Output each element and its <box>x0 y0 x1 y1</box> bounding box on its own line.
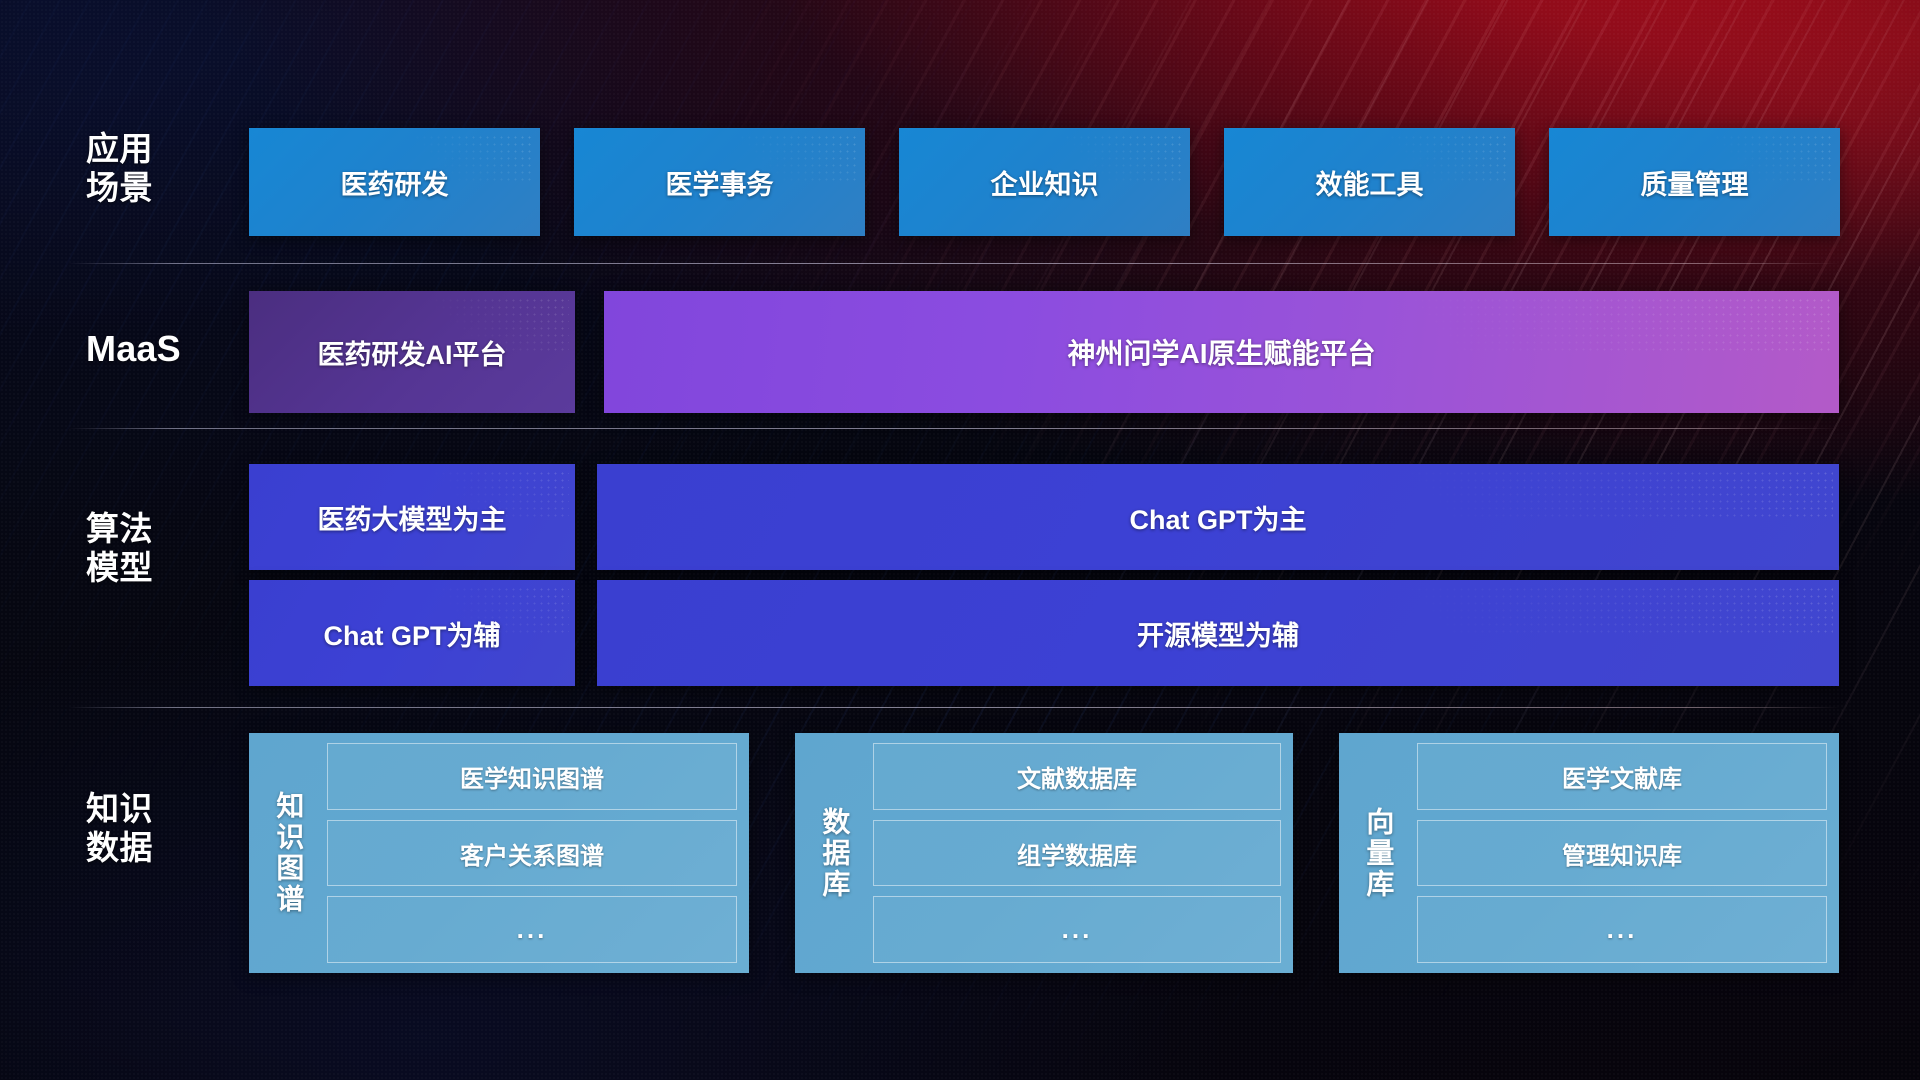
maas-box-shenzhou-wenxue-platform[interactable]: 神州问学AI原生赋能平台 <box>604 291 1839 413</box>
knowledge-group-title-knowledge-graph: 知识图谱 <box>259 743 317 963</box>
app-tile-efficiency-tools[interactable]: 效能工具 <box>1224 128 1515 236</box>
row-label-application-line-1: 应用 <box>86 130 218 169</box>
algo-box-chatgpt-secondary[interactable]: Chat GPT为辅 <box>249 580 575 686</box>
knowledge-group-title-database: 数据库 <box>805 743 863 963</box>
slide-canvas: 应用 场景 医药研发 医学事务 企业知识 效能工具 质量管理 MaaS 医药研发… <box>0 0 1920 1080</box>
knowledge-item-literature-database[interactable]: 文献数据库 <box>873 743 1281 810</box>
row-label-algorithm-line-2: 模型 <box>86 549 218 588</box>
knowledge-group-items-database: 文献数据库 组学数据库 ... <box>863 743 1281 963</box>
knowledge-item-management-knowledge-store[interactable]: 管理知识库 <box>1417 820 1827 887</box>
row-label-knowledge-line-2: 数据 <box>86 829 218 868</box>
row-separator-2 <box>68 428 1840 429</box>
maas-box-pharma-ai-platform[interactable]: 医药研发AI平台 <box>249 291 575 413</box>
knowledge-group-knowledge-graph[interactable]: 知识图谱 医学知识图谱 客户关系图谱 ... <box>249 733 749 973</box>
row-label-application-line-2: 场景 <box>86 169 218 208</box>
row-label-algorithm: 算法 模型 <box>86 510 218 588</box>
knowledge-item-medical-literature-store[interactable]: 医学文献库 <box>1417 743 1827 810</box>
knowledge-group-items-knowledge-graph: 医学知识图谱 客户关系图谱 ... <box>317 743 737 963</box>
row-label-algorithm-line-1: 算法 <box>86 510 218 549</box>
row-label-knowledge-line-1: 知识 <box>86 790 218 829</box>
algo-box-chatgpt-primary[interactable]: Chat GPT为主 <box>597 464 1839 570</box>
knowledge-item-omics-database[interactable]: 组学数据库 <box>873 820 1281 887</box>
knowledge-item-customer-relation-graph[interactable]: 客户关系图谱 <box>327 820 737 887</box>
knowledge-group-items-vector-store: 医学文献库 管理知识库 ... <box>1407 743 1827 963</box>
algo-box-opensource-secondary[interactable]: 开源模型为辅 <box>597 580 1839 686</box>
knowledge-group-vector-store[interactable]: 向量库 医学文献库 管理知识库 ... <box>1339 733 1839 973</box>
knowledge-group-title-vector-store: 向量库 <box>1349 743 1407 963</box>
row-label-knowledge: 知识 数据 <box>86 790 218 868</box>
app-tile-medical-affairs[interactable]: 医学事务 <box>574 128 865 236</box>
app-tile-pharma-rnd[interactable]: 医药研发 <box>249 128 540 236</box>
knowledge-item-more-knowledge-graph[interactable]: ... <box>327 896 737 963</box>
architecture-diagram: 应用 场景 医药研发 医学事务 企业知识 效能工具 质量管理 MaaS 医药研发… <box>0 0 1920 1080</box>
knowledge-item-medical-knowledge-graph[interactable]: 医学知识图谱 <box>327 743 737 810</box>
algo-box-pharma-llm-primary[interactable]: 医药大模型为主 <box>249 464 575 570</box>
row-label-maas-line-1: MaaS <box>86 328 218 370</box>
knowledge-item-more-database[interactable]: ... <box>873 896 1281 963</box>
knowledge-item-more-vector-store[interactable]: ... <box>1417 896 1827 963</box>
row-separator-1 <box>68 263 1840 264</box>
row-label-application: 应用 场景 <box>86 130 218 208</box>
app-tile-enterprise-knowledge[interactable]: 企业知识 <box>899 128 1190 236</box>
knowledge-group-database[interactable]: 数据库 文献数据库 组学数据库 ... <box>795 733 1293 973</box>
row-label-maas: MaaS <box>86 328 218 370</box>
app-tile-quality-management[interactable]: 质量管理 <box>1549 128 1840 236</box>
row-separator-3 <box>68 707 1840 708</box>
